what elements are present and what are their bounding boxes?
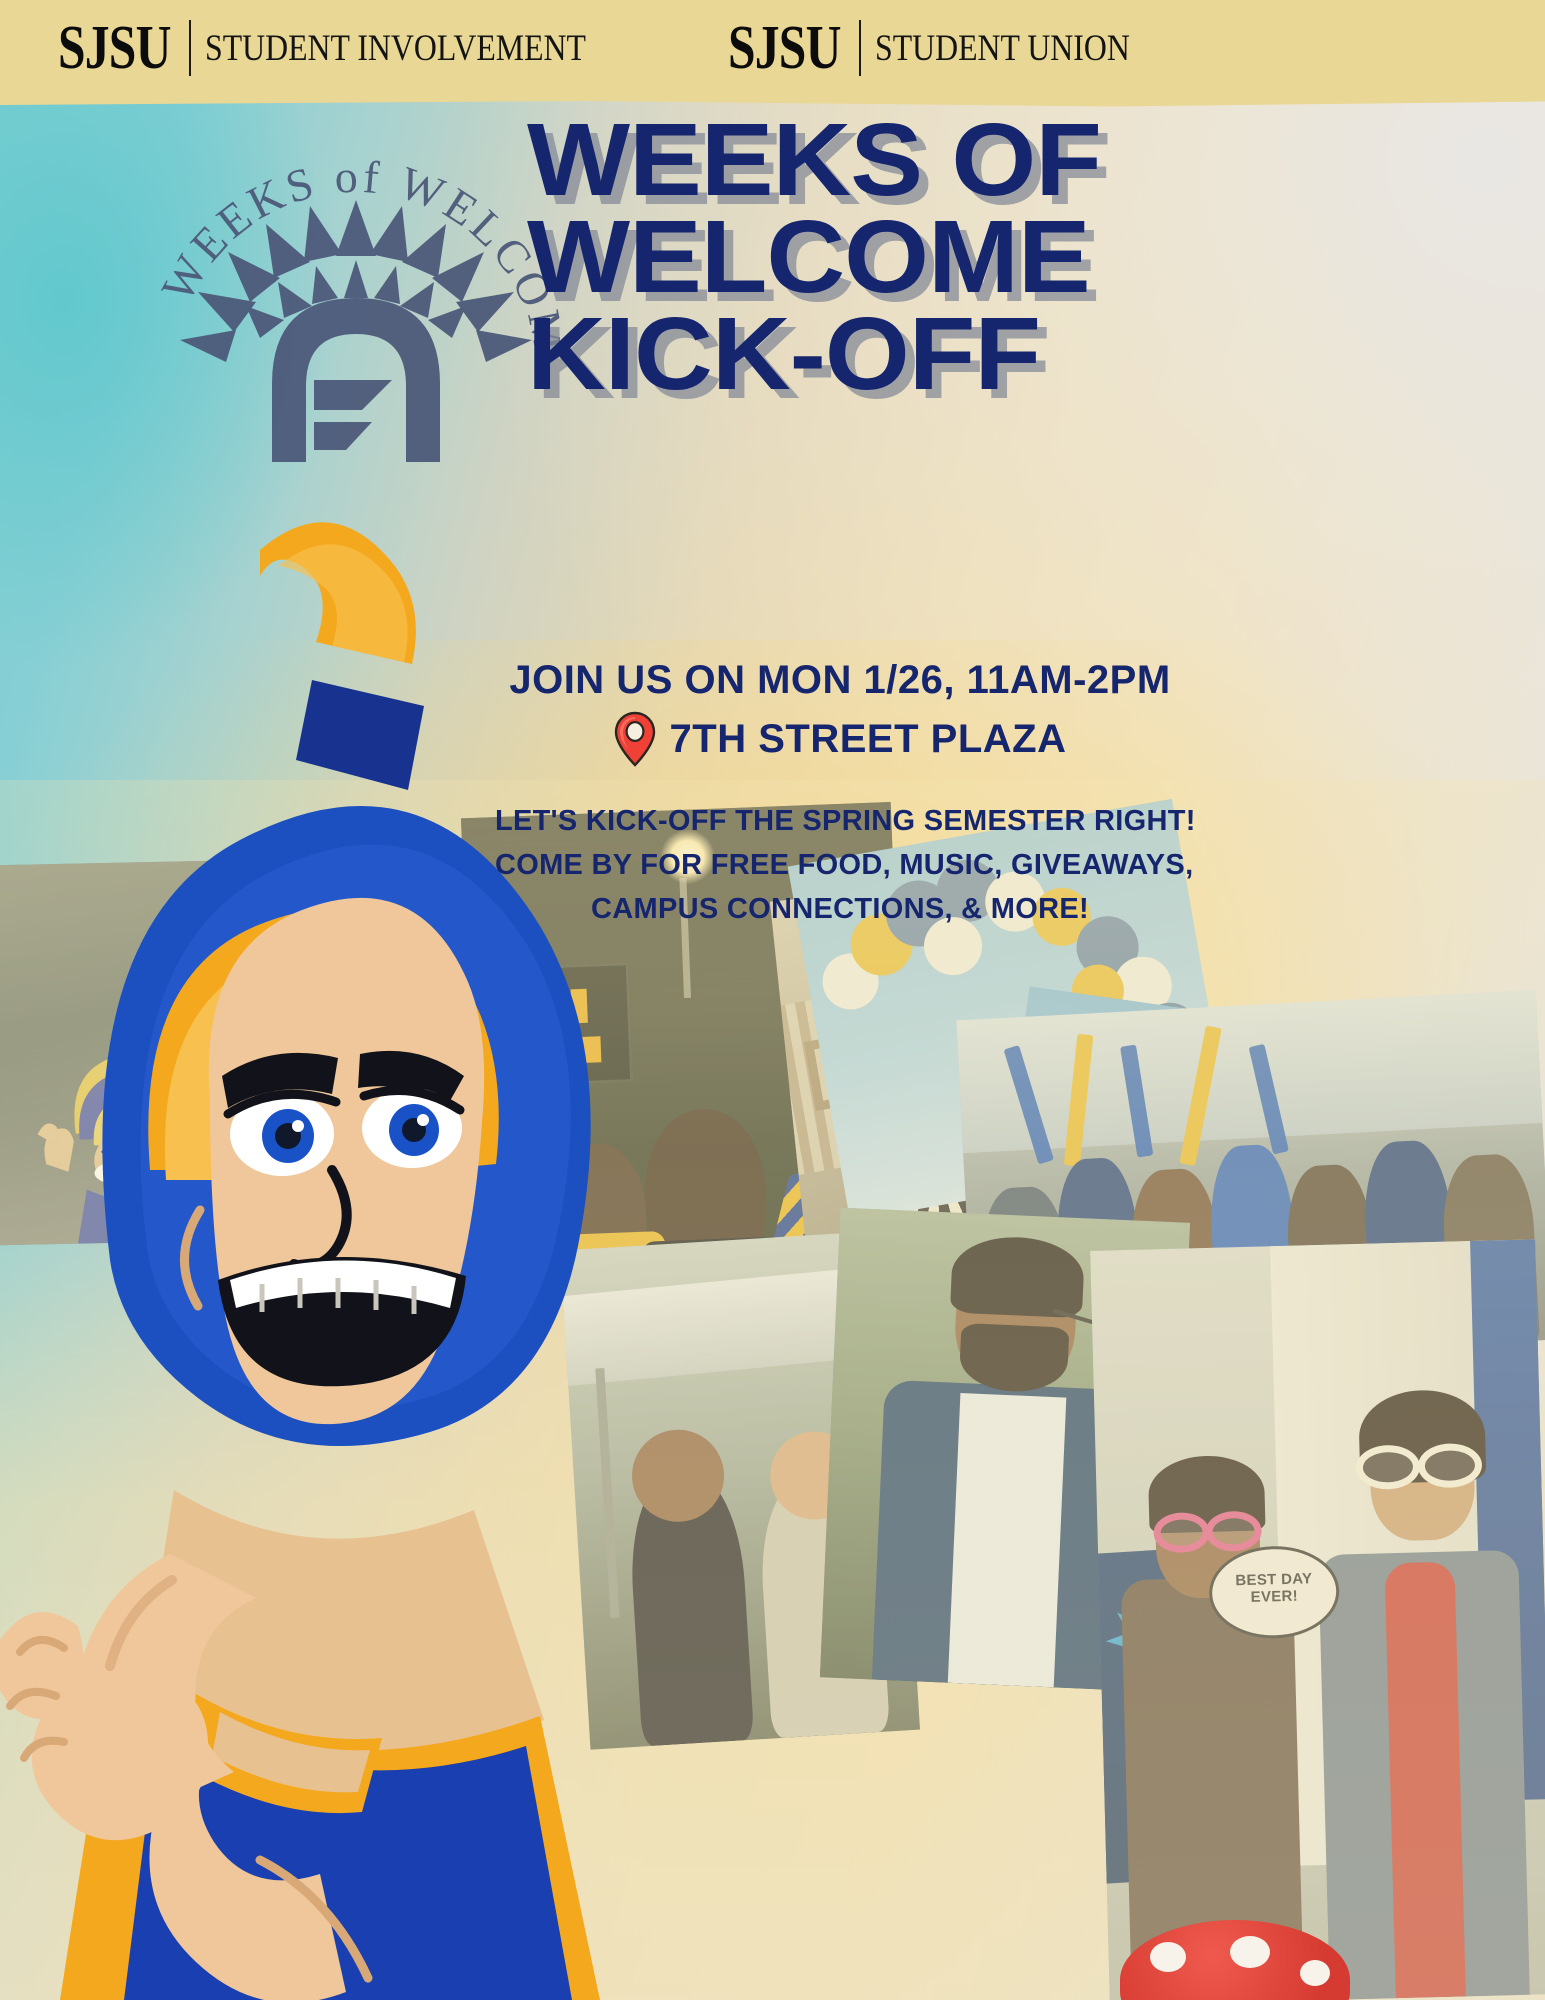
description-line-2: COME BY FOR FREE FOOD, MUSIC, GIVEAWAYS, (495, 843, 1185, 887)
event-location: 7TH STREET PLAZA (670, 717, 1067, 762)
spirit-flag (1179, 1025, 1221, 1165)
spirit-flag (1004, 1045, 1054, 1164)
sjsu-student-union-logo: SJSU STUDENT UNION (728, 17, 1171, 79)
spirit-flag (1064, 1034, 1094, 1167)
spirit-flag (1249, 1044, 1289, 1155)
speaker-hair (950, 1235, 1085, 1319)
spartan-helmet-icon (272, 298, 440, 462)
weeks-of-welcome-badge-logo: WEEKS of WELCOME (150, 122, 560, 462)
speaker-beard (959, 1323, 1070, 1394)
event-description: LET'S KICK-OFF THE SPRING SEMESTER RIGHT… (495, 799, 1185, 931)
booth-blue-banner (1470, 1239, 1545, 1801)
logo-divider (859, 20, 861, 76)
map-pin-icon (614, 711, 656, 767)
sjsu-wordmark: SJSU (728, 17, 841, 79)
photo-booth-sign-text: BEST DAY EVER! (1212, 1570, 1337, 1608)
logo-divider (189, 20, 191, 76)
booth-backdrop (1270, 1240, 1516, 1866)
sjsu-unit-name: STUDENT INVOLVEMENT (205, 30, 586, 67)
photo-booth-sign: BEST DAY EVER! (1208, 1545, 1340, 1640)
photo-photo-booth-students: BEST DAY EVER! (1090, 1239, 1545, 2000)
description-line-3: CAMPUS CONNECTIONS, & MORE! (495, 887, 1185, 931)
sjsu-unit-name: STUDENT UNION (875, 30, 1130, 67)
spirit-flag (1120, 1045, 1153, 1158)
event-location-row: 7TH STREET PLAZA (495, 711, 1185, 767)
sjsu-wordmark: SJSU (58, 17, 171, 79)
event-details: JOIN US ON MON 1/26, 11AM-2PM 7TH STREET… (495, 655, 1185, 931)
student-figure-left (1107, 1426, 1312, 2000)
poster-canvas: BEST DAY EVER! (0, 0, 1545, 2000)
title-line-1: WEEKS OF (527, 112, 1163, 209)
speaker-shirt (948, 1393, 1067, 1687)
description-line-1: LET'S KICK-OFF THE SPRING SEMESTER RIGHT… (495, 799, 1185, 843)
title-line-3: KICK-OFF (527, 306, 1163, 403)
sponsor-header-band: SJSU STUDENT INVOLVEMENT SJSU STUDENT UN… (0, 0, 1545, 100)
speaker-head (953, 1247, 1079, 1392)
student-figure-right (1305, 1360, 1537, 2000)
sjsu-student-involvement-logo: SJSU STUDENT INVOLVEMENT (58, 17, 648, 79)
page-title: WEEKS OF WELCOME KICK-OFF (527, 112, 1127, 402)
title-line-2: WELCOME (527, 209, 1163, 306)
weeks-of-welcome-banner (1090, 1544, 1276, 1884)
banner-helmet-icon (1092, 1565, 1251, 1724)
event-date-time: JOIN US ON MON 1/26, 11AM-2PM (495, 655, 1185, 705)
